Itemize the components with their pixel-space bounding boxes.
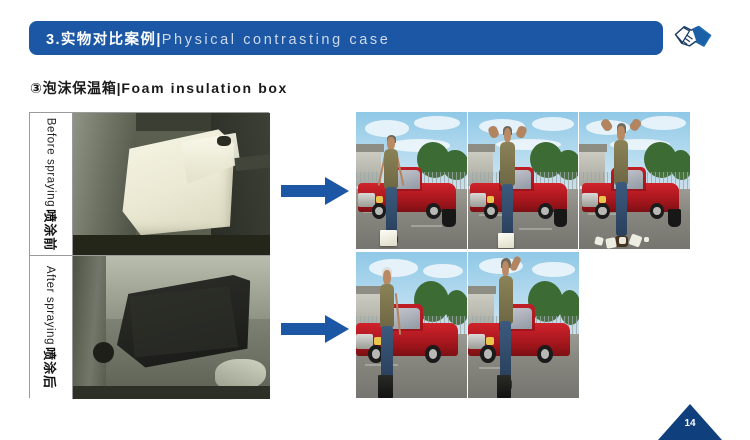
row-label-after-en: After spraying [45,266,57,345]
row-label-after: After spraying 喷涂后 [30,256,73,399]
header-title-en: Physical contrasting case [162,32,391,48]
subtitle-en: Foam insulation box [121,80,288,96]
arrow-before-to-result [281,177,349,205]
page-number: 14 [658,418,722,429]
result-frame-before-3 [579,112,690,249]
section-header-bar: 3.实物对比案例|Physical contrasting case [29,21,663,55]
row-label-before: Before spraying 喷涂前 [30,113,73,255]
header-title-cn: 实物对比案例 [61,32,156,48]
row-label-after-cn: 喷涂后 [42,347,61,389]
photo-after-source [73,256,270,399]
page-subtitle: ③泡沫保温箱|Foam insulation box [30,78,288,98]
header-number: 3. [46,32,61,48]
subtitle-cn: 泡沫保温箱 [43,80,117,96]
photo-before-source [73,113,270,255]
page-number-badge: 14 [658,404,722,440]
header-title: 3.实物对比案例|Physical contrasting case [46,28,390,49]
comparison-row-before: Before spraying 喷涂前 [30,113,270,256]
subtitle-marker: ③ [30,80,43,96]
result-frame-after-2 [468,252,579,398]
row-label-before-cn: 喷涂前 [42,209,61,251]
comparison-row-after: After spraying 喷涂后 [30,256,270,399]
result-frames-after [356,252,579,398]
result-frames-before [356,112,690,249]
handshake-icon [672,18,714,58]
comparison-table: Before spraying 喷涂前 After spraying 喷涂后 [29,112,269,398]
result-frame-before-1 [356,112,468,249]
result-frame-after-1 [356,252,468,398]
result-frame-before-2 [468,112,580,249]
arrow-after-to-result [281,315,349,343]
row-label-before-en: Before spraying [45,117,57,207]
